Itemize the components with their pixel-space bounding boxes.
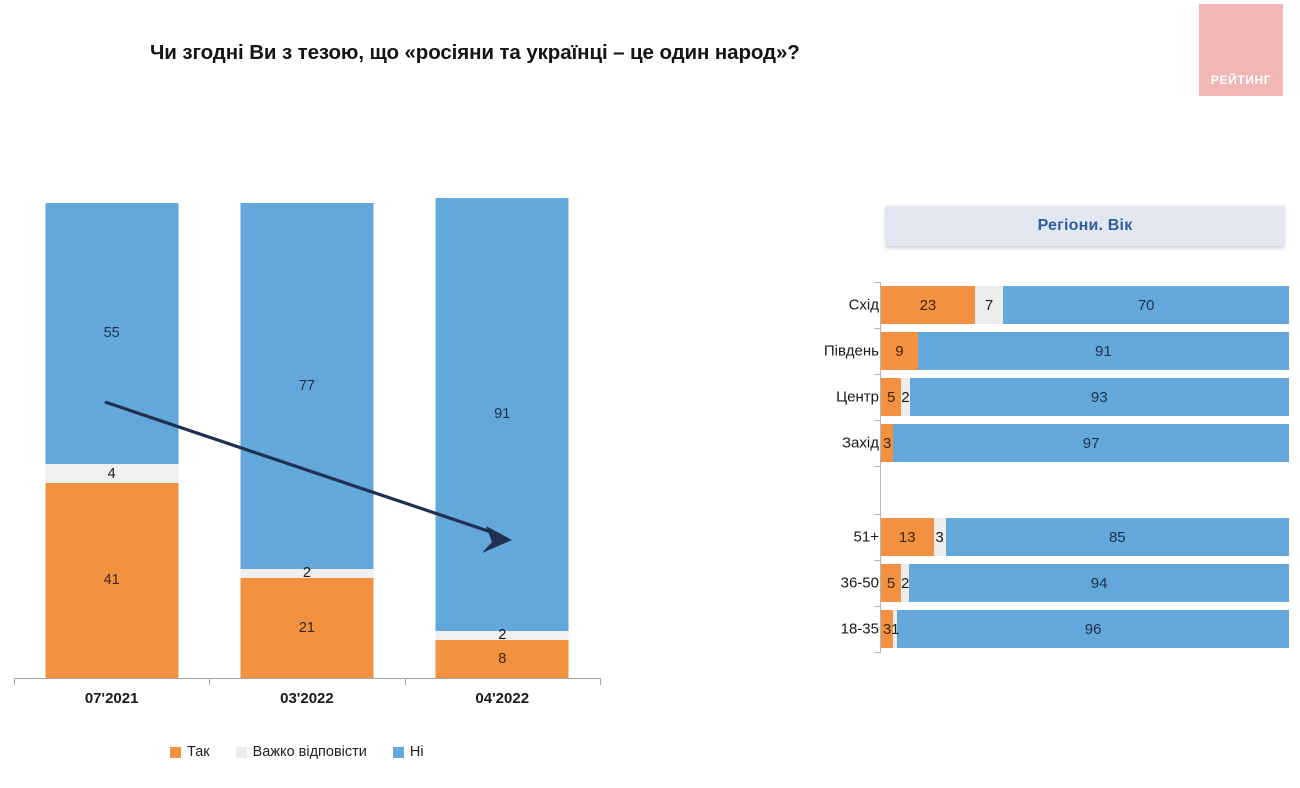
regions-age-segment-value: 5 <box>887 576 895 591</box>
rating-logo-text: РЕЙТИНГ <box>1211 74 1271 86</box>
regions-age-row-label: Південь <box>759 343 879 360</box>
legend-item-yes[interactable]: Так <box>170 745 210 760</box>
regions-age-segment-value: 2 <box>901 576 909 591</box>
regions-age-stacked-bar: 5293 <box>881 378 1289 416</box>
regions-age-segment-yes: 9 <box>881 332 918 370</box>
trend-column: 8291 <box>405 180 600 678</box>
legend-swatch-hard <box>236 747 247 758</box>
trend-axis-tick <box>209 678 210 685</box>
legend-label-yes: Так <box>187 745 210 760</box>
regions-age-stacked-bar: 13385 <box>881 518 1289 556</box>
regions-age-header-text: Регіони. Вік <box>1038 217 1133 235</box>
regions-age-segment-no: 96 <box>897 610 1289 648</box>
regions-age-segment-no: 70 <box>1003 286 1289 324</box>
regions-age-row-label: 18-35 <box>759 621 879 638</box>
trend-column: 21277 <box>209 180 404 678</box>
regions-age-segment-no: 97 <box>893 424 1289 462</box>
page-title: Чи згодні Ви з тезою, що «росіяни та укр… <box>150 41 1110 65</box>
trend-segment-value: 41 <box>104 573 120 588</box>
regions-age-segment-value: 91 <box>1095 344 1112 359</box>
trend-stacked-bar: 41455 <box>45 203 178 678</box>
trend-segment-hard: 2 <box>436 631 569 641</box>
regions-age-segment-value: 9 <box>895 344 903 359</box>
regions-age-segment-value: 23 <box>920 298 937 313</box>
legend-item-hard[interactable]: Важко відповісти <box>236 745 367 760</box>
regions-age-segment-value: 85 <box>1109 530 1126 545</box>
regions-age-axis-tick <box>874 652 880 653</box>
regions-age-segment-value: 3 <box>883 622 891 637</box>
regions-age-segment-value: 96 <box>1085 622 1102 637</box>
regions-age-segment-yes: 13 <box>881 518 934 556</box>
regions-age-row-label: 36-50 <box>759 575 879 592</box>
regions-age-axis-tick <box>874 466 880 467</box>
legend-swatch-yes <box>170 747 181 758</box>
trend-category-label: 07'2021 <box>14 690 209 707</box>
regions-age-segment-hard: 7 <box>975 286 1004 324</box>
trend-segment-value: 91 <box>494 407 510 422</box>
trend-axis-tick <box>14 678 15 685</box>
regions-age-row: 18-353196 <box>880 606 1290 652</box>
legend-item-no[interactable]: Ні <box>393 745 424 760</box>
trend-segment-yes: 8 <box>436 640 569 678</box>
legend-label-no: Ні <box>410 745 424 760</box>
regions-age-segment-no: 85 <box>946 518 1289 556</box>
trend-category-label: 03'2022 <box>209 690 404 707</box>
trend-segment-value: 2 <box>303 566 311 581</box>
trend-segment-no: 91 <box>436 198 569 630</box>
regions-age-rows: Схід23770Південь991Центр5293Захід39751+1… <box>880 282 1290 726</box>
trend-plot-area: 41455212778291 <box>14 180 600 678</box>
regions-age-segment-hard: 3 <box>934 518 946 556</box>
trend-stacked-bar: 8291 <box>436 203 569 678</box>
regions-age-segment-no: 91 <box>918 332 1289 370</box>
regions-age-segment-yes: 5 <box>881 378 901 416</box>
regions-age-row: Захід397 <box>880 420 1290 466</box>
regions-age-row: 51+13385 <box>880 514 1290 560</box>
trend-column: 41455 <box>14 180 209 678</box>
trend-category-label: 04'2022 <box>405 690 600 707</box>
trend-x-axis-line <box>14 678 600 679</box>
slide-root: РЕЙТИНГ Чи згодні Ви з тезою, що «росіян… <box>0 0 1300 788</box>
trend-segment-value: 8 <box>498 652 506 667</box>
regions-age-segment-hard: 2 <box>901 378 909 416</box>
regions-age-header: Регіони. Вік <box>885 205 1285 246</box>
trend-segment-value: 4 <box>108 467 116 482</box>
trend-axis-tick <box>600 678 601 685</box>
trend-segment-no: 55 <box>45 203 178 464</box>
regions-age-panel: Регіони. Вік Схід23770Південь991Центр529… <box>880 196 1290 736</box>
regions-age-stacked-bar: 3196 <box>881 610 1289 648</box>
regions-age-stacked-bar: 5294 <box>881 564 1289 602</box>
regions-age-row-label: Схід <box>759 297 879 314</box>
regions-age-segment-yes: 23 <box>881 286 975 324</box>
trend-segment-hard: 2 <box>240 569 373 579</box>
regions-age-stacked-bar: 23770 <box>881 286 1289 324</box>
regions-age-segment-value: 70 <box>1138 298 1155 313</box>
trend-segment-value: 2 <box>498 628 506 643</box>
regions-age-segment-value: 13 <box>899 530 916 545</box>
regions-age-segment-no: 94 <box>909 564 1289 602</box>
trend-bar-chart: 41455212778291 07'202103'202204'2022 <box>0 180 620 780</box>
regions-age-segment-value: 94 <box>1091 576 1108 591</box>
regions-age-segment-value: 3 <box>883 436 891 451</box>
regions-age-segment-yes: 3 <box>881 424 893 462</box>
regions-age-stacked-bar: 397 <box>881 424 1289 462</box>
legend-label-hard: Важко відповісти <box>253 745 367 760</box>
regions-age-segment-yes: 5 <box>881 564 901 602</box>
regions-age-segment-value: 2 <box>901 390 909 405</box>
chart-legend: ТакВажко відповістиНі <box>170 745 424 760</box>
legend-swatch-no <box>393 747 404 758</box>
trend-segment-yes: 41 <box>45 483 178 678</box>
trend-axis-tick <box>405 678 406 685</box>
regions-age-segment-hard: 2 <box>901 564 909 602</box>
regions-age-row: Схід23770 <box>880 282 1290 328</box>
trend-segment-hard: 4 <box>45 464 178 483</box>
rating-logo: РЕЙТИНГ <box>1199 4 1283 96</box>
regions-age-row: 36-505294 <box>880 560 1290 606</box>
regions-age-row-label: Захід <box>759 435 879 452</box>
trend-segment-no: 77 <box>240 203 373 569</box>
trend-segment-value: 77 <box>299 379 315 394</box>
regions-age-row: Центр5293 <box>880 374 1290 420</box>
trend-segment-yes: 21 <box>240 578 373 678</box>
regions-age-segment-value: 7 <box>985 298 993 313</box>
regions-age-segment-value: 97 <box>1083 436 1100 451</box>
regions-age-segment-value: 1 <box>891 622 899 637</box>
trend-stacked-bar: 21277 <box>240 203 373 678</box>
regions-age-row-label: 51+ <box>759 529 879 546</box>
trend-segment-value: 21 <box>299 621 315 636</box>
regions-age-stacked-bar: 991 <box>881 332 1289 370</box>
regions-age-segment-no: 93 <box>910 378 1289 416</box>
regions-age-segment-value: 93 <box>1091 390 1108 405</box>
regions-age-row-label: Центр <box>759 389 879 406</box>
trend-segment-value: 55 <box>104 326 120 341</box>
regions-age-row: Південь991 <box>880 328 1290 374</box>
regions-age-segment-value: 5 <box>887 390 895 405</box>
regions-age-segment-value: 3 <box>935 530 943 545</box>
